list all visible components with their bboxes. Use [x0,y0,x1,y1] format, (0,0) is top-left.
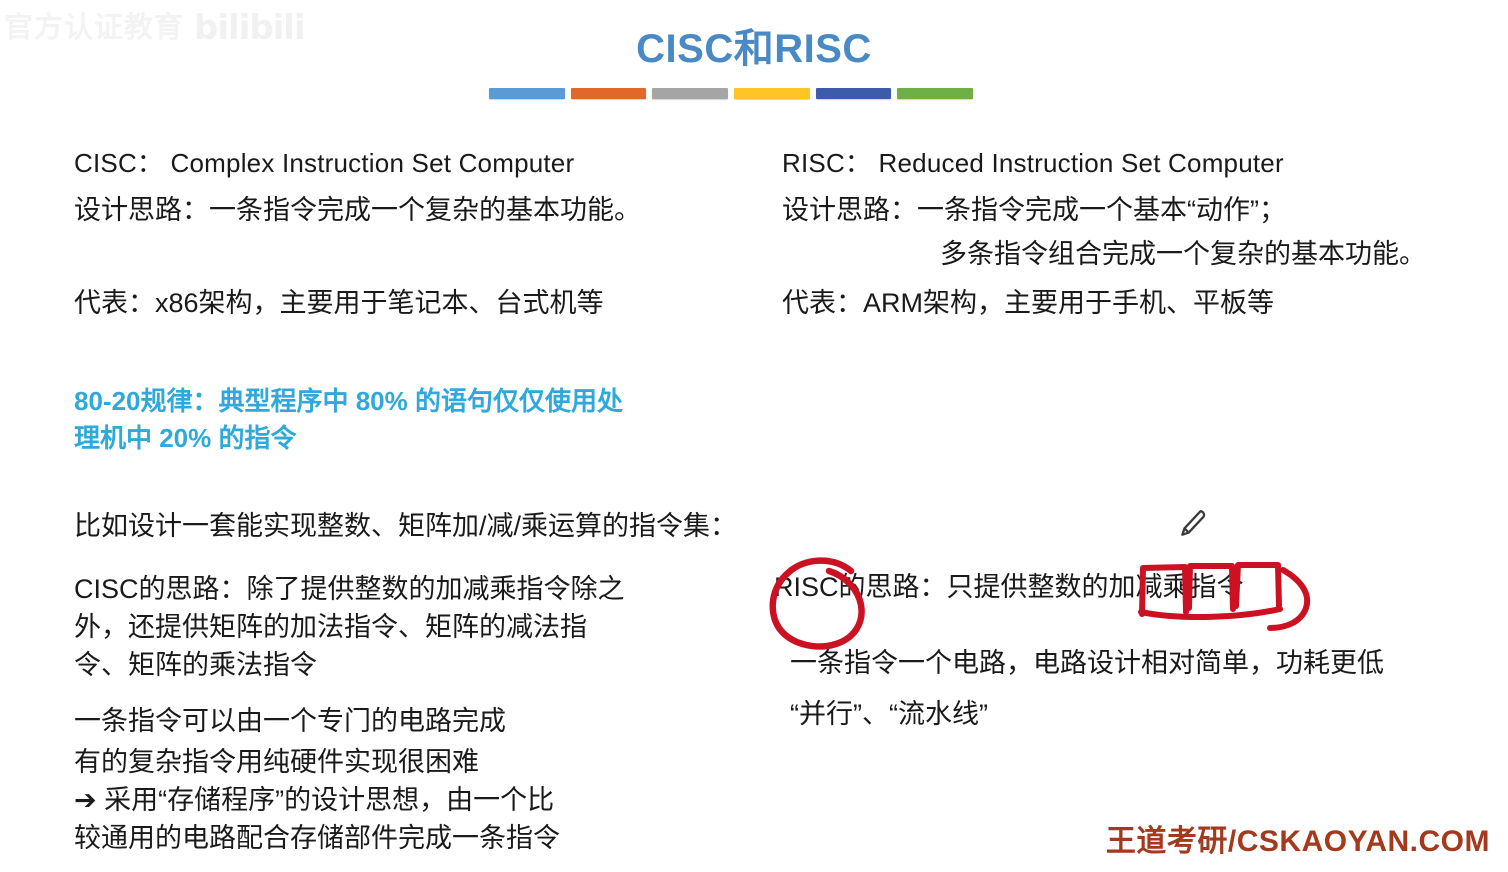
risc-heading: RISC： Reduced Instruction Set Computer [782,141,1284,185]
rule-8020-line-1: 80-20规律：典型程序中 80% 的语句仅仅使用处 [74,383,623,420]
closing-arc-icon [1270,570,1307,628]
risc-note-2-block: “并行”、“流水线” [790,692,988,736]
rule-segment-3 [652,88,728,99]
title-rule [489,88,973,99]
risc-heading-block: RISC： Reduced Instruction Set Computer [782,141,1284,185]
risc-note-1-block: 一条指令一个电路，电路设计相对简单，功耗更低 [790,641,1384,685]
risc-idea-block: RISC的思路：只提供整数的加减乘指令 [774,565,1244,609]
example-intro-block: 比如设计一套能实现整数、矩阵加/减/乘运算的指令集： [74,504,737,548]
cisc-note-1: 一条指令可以由一个专门的电路完成 [74,699,506,743]
cisc-note-1-block: 一条指令可以由一个专门的电路完成 [74,699,506,743]
example-intro: 比如设计一套能实现整数、矩阵加/减/乘运算的指令集： [74,504,737,548]
slide-canvas: 官方认证教育 bilibili CISC和RISC CISC： Complex … [0,0,1508,872]
cisc-idea-line-2: 外，还提供矩阵的加法指令、矩阵的减法指 [74,608,625,646]
cisc-note-2-line-2: ➔ 采用“存储程序”的设计思想，由一个比 [74,781,560,819]
cisc-representative-block: 代表：x86架构，主要用于笔记本、台式机等 [74,281,604,325]
pencil-icon[interactable] [1176,506,1210,540]
cisc-heading: CISC： Complex Instruction Set Computer [74,141,574,185]
cisc-design-idea-block: 设计思路：一条指令完成一个复杂的基本功能。 [74,188,641,232]
site-watermark: 王道考研/CSKAOYAN.COM [1106,816,1490,860]
rule-segment-2 [571,88,647,99]
cisc-design-idea: 设计思路：一条指令完成一个复杂的基本功能。 [74,188,641,232]
rule-8020-line-2: 理机中 20% 的指令 [74,420,623,457]
cisc-idea-line-1: CISC的思路：除了提供整数的加减乘指令除之 [74,570,625,608]
risc-representative-block: 代表：ARM架构，主要用于手机、平板等 [782,281,1274,325]
risc-design-idea-line-1: 设计思路：一条指令完成一个基本“动作”； [782,188,1426,232]
risc-idea: RISC的思路：只提供整数的加减乘指令 [774,565,1244,609]
risc-design-idea-line-2: 多条指令组合完成一个复杂的基本功能。 [782,232,1426,276]
cisc-idea-line-3: 令、矩阵的乘法指令 [74,646,625,684]
cisc-representative: 代表：x86架构，主要用于笔记本、台式机等 [74,281,604,325]
box-mark-underline-icon [1141,609,1280,617]
rule-segment-5 [816,88,892,99]
cisc-note-2-block: 有的复杂指令用纯硬件实现很困难 ➔ 采用“存储程序”的设计思想，由一个比 较通用… [74,743,560,857]
risc-note-2: “并行”、“流水线” [790,692,988,736]
cisc-heading-block: CISC： Complex Instruction Set Computer [74,141,574,185]
cisc-note-2-line-1: 有的复杂指令用纯硬件实现很困难 [74,743,560,781]
rule-segment-1 [489,88,565,99]
risc-representative: 代表：ARM架构，主要用于手机、平板等 [782,281,1274,325]
risc-design-idea-block: 设计思路：一条指令完成一个基本“动作”； 多条指令组合完成一个复杂的基本功能。 [782,188,1426,276]
page-title: CISC和RISC [0,16,1508,74]
risc-note-1: 一条指令一个电路，电路设计相对简单，功耗更低 [790,641,1384,685]
rule-segment-6 [897,88,973,99]
cisc-note-2-line-3: 较通用的电路配合存储部件完成一条指令 [74,819,560,857]
rule-segment-4 [734,88,810,99]
rule-8020-block: 80-20规律：典型程序中 80% 的语句仅仅使用处 理机中 20% 的指令 [74,383,623,457]
cisc-idea-block: CISC的思路：除了提供整数的加减乘指令除之 外，还提供矩阵的加法指令、矩阵的减… [74,570,625,684]
